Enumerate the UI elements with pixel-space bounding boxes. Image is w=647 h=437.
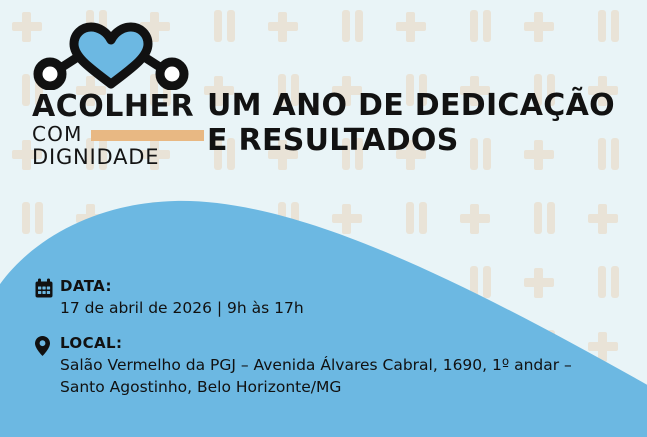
page-title: UM ANO DE DEDICAÇÃO E RESULTADOS — [207, 88, 615, 158]
logo-line-dignidade: DIGNIDADE — [32, 147, 204, 168]
brand-logo: ACOLHER COM DIGNIDADE — [24, 18, 204, 168]
heart-network-logo-icon — [30, 18, 192, 90]
detail-label-location: LOCAL: — [60, 334, 122, 352]
detail-value-location: Salão Vermelho da PGJ – Avenida Álvares … — [60, 354, 572, 398]
detail-row-date: DATA: 17 de abril de 2026 | 9h às 17h — [34, 276, 572, 319]
detail-value-date: 17 de abril de 2026 | 9h às 17h — [60, 297, 304, 319]
logo-accent-bar — [91, 130, 204, 141]
event-details: DATA: 17 de abril de 2026 | 9h às 17h LO… — [34, 276, 572, 412]
detail-row-location: LOCAL: Salão Vermelho da PGJ – Avenida Á… — [34, 333, 572, 398]
calendar-icon — [34, 276, 60, 299]
event-poster: ACOLHER COM DIGNIDADE UM ANO DE DEDICAÇÃ… — [0, 0, 647, 437]
logo-line-acolher: ACOLHER — [32, 92, 204, 122]
detail-label-date: DATA: — [60, 277, 112, 295]
map-pin-icon — [34, 333, 60, 357]
logo-line-com: COM — [32, 124, 83, 144]
